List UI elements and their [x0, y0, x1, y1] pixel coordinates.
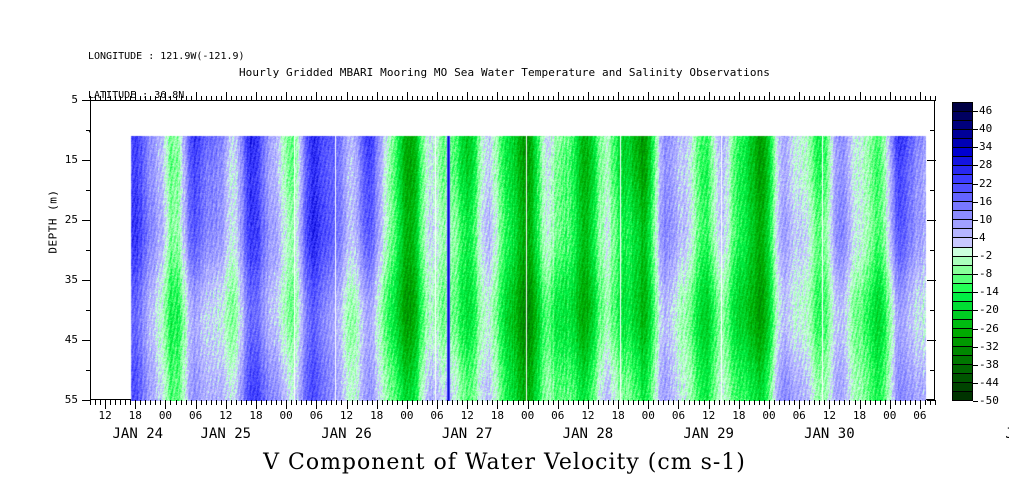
x-axis-top-major-tick — [618, 92, 619, 101]
x-axis-minor-tick — [306, 400, 307, 405]
x-axis-minor-tick — [839, 400, 840, 405]
colorbar-tick — [973, 111, 978, 112]
y-axis-major-tick — [82, 220, 91, 221]
x-axis-minor-tick — [885, 400, 886, 405]
y-axis-minor-tick — [86, 250, 91, 251]
y-axis-right-minor-tick — [930, 310, 935, 311]
x-axis-minor-tick — [794, 400, 795, 405]
x-axis-minor-tick — [140, 400, 141, 405]
colorbar-cell — [953, 275, 972, 284]
x-axis-minor-tick — [643, 400, 644, 405]
x-axis-top-major-tick — [105, 92, 106, 101]
x-axis-minor-tick — [608, 400, 609, 405]
x-axis-minor-tick — [502, 400, 503, 405]
colorbar-cell — [953, 338, 972, 347]
x-axis-major-tick — [920, 400, 921, 409]
x-axis-top-minor-tick — [870, 96, 871, 101]
x-axis-major-tick — [678, 400, 679, 409]
colorbar-cell — [953, 320, 972, 329]
x-axis-minor-tick — [734, 400, 735, 405]
x-axis-minor-tick — [367, 400, 368, 405]
x-axis-top-minor-tick — [613, 96, 614, 101]
colorbar-tick — [973, 238, 978, 239]
x-axis-top-minor-tick — [714, 96, 715, 101]
x-axis-day-label: JAN 25 — [166, 426, 286, 442]
x-axis-minor-tick — [905, 400, 906, 405]
x-axis-major-tick — [196, 400, 197, 409]
x-axis-top-major-tick — [739, 92, 740, 101]
x-axis-major-tick — [769, 400, 770, 409]
x-axis-minor-tick — [628, 400, 629, 405]
colorbar-cell — [953, 112, 972, 121]
colorbar — [952, 102, 973, 401]
colorbar-cell — [953, 121, 972, 130]
y-axis-major-tick — [82, 400, 91, 401]
x-axis-top-minor-tick — [331, 96, 332, 101]
x-axis-top-minor-tick — [326, 96, 327, 101]
colorbar-label: -50 — [979, 394, 999, 407]
x-axis-minor-tick — [764, 400, 765, 405]
x-axis-minor-tick — [392, 400, 393, 405]
heatmap-canvas — [91, 101, 936, 401]
x-axis-minor-tick — [241, 400, 242, 405]
colorbar-cell — [953, 211, 972, 220]
x-axis-minor-tick — [543, 400, 544, 405]
x-axis-top-minor-tick — [301, 96, 302, 101]
colorbar-cell — [953, 157, 972, 166]
colorbar-label: -38 — [979, 358, 999, 371]
x-axis-major-tick — [286, 400, 287, 409]
x-axis-minor-tick — [457, 400, 458, 405]
colorbar-cell — [953, 220, 972, 229]
x-axis-minor-tick — [387, 400, 388, 405]
x-axis-top-minor-tick — [191, 96, 192, 101]
x-axis-top-minor-tick — [910, 96, 911, 101]
x-axis-minor-tick — [724, 400, 725, 405]
x-axis-major-tick — [226, 400, 227, 409]
x-axis-top-minor-tick — [120, 96, 121, 101]
x-axis-minor-tick — [336, 400, 337, 405]
x-axis-top-minor-tick — [115, 96, 116, 101]
x-axis-minor-tick — [880, 400, 881, 405]
x-axis-minor-tick — [341, 400, 342, 405]
x-axis-top-minor-tick — [392, 96, 393, 101]
x-axis-minor-tick — [301, 400, 302, 405]
x-axis-top-major-tick — [799, 92, 800, 101]
x-axis-top-minor-tick — [110, 96, 111, 101]
x-axis-top-minor-tick — [181, 96, 182, 101]
x-axis-top-minor-tick — [397, 96, 398, 101]
x-axis-minor-tick — [331, 400, 332, 405]
x-axis-top-major-tick — [920, 92, 921, 101]
x-axis-minor-tick — [548, 400, 549, 405]
x-axis-top-minor-tick — [357, 96, 358, 101]
x-axis-top-minor-tick — [236, 96, 237, 101]
x-axis-top-major-tick — [890, 92, 891, 101]
x-axis-minor-tick — [492, 400, 493, 405]
x-axis-minor-tick — [538, 400, 539, 405]
x-axis-top-minor-tick — [593, 96, 594, 101]
x-axis-major-tick — [558, 400, 559, 409]
x-axis-minor-tick — [673, 400, 674, 405]
x-axis-minor-tick — [206, 400, 207, 405]
colorbar-label: 34 — [979, 140, 992, 153]
x-axis-top-minor-tick — [221, 96, 222, 101]
x-axis-top-minor-tick — [201, 96, 202, 101]
x-axis-top-minor-tick — [186, 96, 187, 101]
y-axis-major-tick — [82, 160, 91, 161]
x-axis-top-minor-tick — [216, 96, 217, 101]
x-axis-minor-tick — [865, 400, 866, 405]
x-axis-top-minor-tick — [422, 96, 423, 101]
colorbar-cell — [953, 284, 972, 293]
colorbar-label: -20 — [979, 303, 999, 316]
x-axis-minor-tick — [281, 400, 282, 405]
x-axis-top-major-tick — [407, 92, 408, 101]
colorbar-cell — [953, 139, 972, 148]
x-axis-top-minor-tick — [603, 96, 604, 101]
x-axis-top-minor-tick — [885, 96, 886, 101]
x-axis-top-major-tick — [860, 92, 861, 101]
colorbar-cell — [953, 103, 972, 112]
x-axis-top-minor-tick — [925, 96, 926, 101]
x-axis-minor-tick — [668, 400, 669, 405]
colorbar-label: -26 — [979, 322, 999, 335]
x-axis-minor-tick — [402, 400, 403, 405]
x-axis-top-minor-tick — [658, 96, 659, 101]
x-axis-top-minor-tick — [145, 96, 146, 101]
x-axis-top-major-tick — [226, 92, 227, 101]
x-axis-major-tick — [165, 400, 166, 409]
x-axis-top-minor-tick — [321, 96, 322, 101]
x-axis-minor-tick — [352, 400, 353, 405]
colorbar-tick — [973, 365, 978, 366]
x-axis-top-minor-tick — [824, 96, 825, 101]
x-axis-minor-tick — [201, 400, 202, 405]
x-axis-minor-tick — [276, 400, 277, 405]
x-axis-minor-tick — [100, 400, 101, 405]
x-axis-top-minor-tick — [875, 96, 876, 101]
x-axis-top-minor-tick — [598, 96, 599, 101]
x-axis-day-label: JAN 31 — [971, 426, 1009, 442]
colorbar-cell — [953, 311, 972, 320]
x-axis-minor-tick — [663, 400, 664, 405]
x-axis-top-minor-tick — [477, 96, 478, 101]
x-axis-minor-tick — [819, 400, 820, 405]
x-axis-minor-tick — [568, 400, 569, 405]
x-axis-minor-tick — [834, 400, 835, 405]
colorbar-cell — [953, 374, 972, 383]
x-axis-minor-tick — [900, 400, 901, 405]
x-axis-minor-tick — [809, 400, 810, 405]
x-axis-day-label: JAN 28 — [528, 426, 648, 442]
x-axis-minor-tick — [729, 400, 730, 405]
x-axis-top-minor-tick — [296, 96, 297, 101]
x-axis-top-minor-tick — [281, 96, 282, 101]
colorbar-cell — [953, 356, 972, 365]
colorbar-tick — [973, 165, 978, 166]
x-axis-top-minor-tick — [633, 96, 634, 101]
x-axis-top-minor-tick — [176, 96, 177, 101]
x-axis-top-minor-tick — [487, 96, 488, 101]
x-axis-day-label: JAN 26 — [287, 426, 407, 442]
x-axis-top-minor-tick — [623, 96, 624, 101]
x-axis-top-minor-tick — [719, 96, 720, 101]
x-axis-minor-tick — [125, 400, 126, 405]
x-axis-minor-tick — [472, 400, 473, 405]
x-axis-minor-tick — [689, 400, 690, 405]
x-axis-minor-tick — [362, 400, 363, 405]
colorbar-tick — [973, 129, 978, 130]
x-axis-top-major-tick — [558, 92, 559, 101]
x-axis-minor-tick — [95, 400, 96, 405]
x-axis-top-minor-tick — [814, 96, 815, 101]
y-axis-depth-label: 5 — [46, 93, 78, 106]
x-axis-minor-tick — [231, 400, 232, 405]
x-axis-minor-tick — [507, 400, 508, 405]
x-axis-top-major-tick — [709, 92, 710, 101]
x-axis-minor-tick — [115, 400, 116, 405]
x-axis-top-minor-tick — [507, 96, 508, 101]
x-axis-major-tick — [739, 400, 740, 409]
x-axis-minor-tick — [714, 400, 715, 405]
x-axis-minor-tick — [462, 400, 463, 405]
x-axis-top-minor-tick — [447, 96, 448, 101]
x-axis-minor-tick — [744, 400, 745, 405]
x-axis-top-minor-tick — [734, 96, 735, 101]
x-axis-major-tick — [799, 400, 800, 409]
x-axis-top-minor-tick — [779, 96, 780, 101]
x-axis-top-minor-tick — [241, 96, 242, 101]
x-axis-minor-tick — [784, 400, 785, 405]
colorbar-cell — [953, 130, 972, 139]
x-axis-top-minor-tick — [387, 96, 388, 101]
x-axis-minor-tick — [749, 400, 750, 405]
x-axis-top-minor-tick — [804, 96, 805, 101]
x-axis-top-minor-tick — [492, 96, 493, 101]
x-axis-top-minor-tick — [865, 96, 866, 101]
x-axis-top-minor-tick — [643, 96, 644, 101]
x-axis-top-minor-tick — [663, 96, 664, 101]
x-axis-minor-tick — [513, 400, 514, 405]
x-axis-major-tick — [709, 400, 710, 409]
x-axis-minor-tick — [653, 400, 654, 405]
x-axis-top-minor-tick — [442, 96, 443, 101]
x-axis-top-major-tick — [316, 92, 317, 101]
x-axis-top-minor-tick — [402, 96, 403, 101]
x-axis-top-major-tick — [829, 92, 830, 101]
x-axis-top-minor-tick — [563, 96, 564, 101]
x-axis-minor-tick — [130, 400, 131, 405]
longitude-text: LONGITUDE : 121.9W(-121.9) — [88, 50, 245, 63]
x-axis-hour-label: 06 — [900, 409, 940, 422]
x-axis-minor-tick — [170, 400, 171, 405]
x-axis-top-minor-tick — [533, 96, 534, 101]
x-axis-top-minor-tick — [367, 96, 368, 101]
x-axis-day-label: JAN 29 — [649, 426, 769, 442]
x-axis-minor-tick — [311, 400, 312, 405]
x-axis-minor-tick — [915, 400, 916, 405]
x-axis-top-minor-tick — [699, 96, 700, 101]
x-axis-top-minor-tick — [472, 96, 473, 101]
x-axis-top-minor-tick — [628, 96, 629, 101]
x-axis-minor-tick — [271, 400, 272, 405]
colorbar-tick — [973, 347, 978, 348]
y-axis-depth-label: 25 — [46, 213, 78, 226]
x-axis-day-label: JAN 27 — [407, 426, 527, 442]
x-axis-major-tick — [860, 400, 861, 409]
x-axis-top-minor-tick — [809, 96, 810, 101]
colorbar-cell — [953, 257, 972, 266]
x-axis-top-minor-tick — [502, 96, 503, 101]
x-axis-top-minor-tick — [266, 96, 267, 101]
x-axis-top-minor-tick — [673, 96, 674, 101]
x-axis-top-minor-tick — [412, 96, 413, 101]
colorbar-tick — [973, 310, 978, 311]
x-axis-top-major-tick — [648, 92, 649, 101]
x-axis-top-minor-tick — [336, 96, 337, 101]
x-axis-top-minor-tick — [95, 96, 96, 101]
x-axis-top-minor-tick — [206, 96, 207, 101]
x-axis-minor-tick — [357, 400, 358, 405]
x-axis-top-minor-tick — [543, 96, 544, 101]
x-axis-minor-tick — [658, 400, 659, 405]
x-axis-top-minor-tick — [849, 96, 850, 101]
x-axis-top-major-tick — [528, 92, 529, 101]
colorbar-cell — [953, 302, 972, 311]
x-axis-minor-tick — [412, 400, 413, 405]
x-axis-top-minor-tick — [125, 96, 126, 101]
x-axis-minor-tick — [824, 400, 825, 405]
x-axis-top-minor-tick — [915, 96, 916, 101]
x-axis-top-minor-tick — [100, 96, 101, 101]
x-axis-top-minor-tick — [608, 96, 609, 101]
y-axis-major-tick — [82, 280, 91, 281]
colorbar-label: -32 — [979, 340, 999, 353]
x-axis-minor-tick — [382, 400, 383, 405]
x-axis-major-tick — [347, 400, 348, 409]
x-axis-major-tick — [316, 400, 317, 409]
x-axis-top-minor-tick — [754, 96, 755, 101]
x-axis-major-tick — [528, 400, 529, 409]
x-axis-top-minor-tick — [341, 96, 342, 101]
x-axis-major-tick — [377, 400, 378, 409]
y-axis-right-minor-tick — [930, 250, 935, 251]
x-axis-top-minor-tick — [462, 96, 463, 101]
x-axis-top-minor-tick — [291, 96, 292, 101]
x-axis-minor-tick — [251, 400, 252, 405]
x-axis-top-major-tick — [165, 92, 166, 101]
x-axis-top-minor-tick — [774, 96, 775, 101]
colorbar-label: 40 — [979, 122, 992, 135]
colorbar-label: 10 — [979, 213, 992, 226]
x-axis-minor-tick — [603, 400, 604, 405]
x-axis-top-minor-tick — [729, 96, 730, 101]
x-axis-top-minor-tick — [684, 96, 685, 101]
x-axis-minor-tick — [759, 400, 760, 405]
x-axis-top-major-tick — [256, 92, 257, 101]
x-axis-top-minor-tick — [382, 96, 383, 101]
x-axis-top-minor-tick — [251, 96, 252, 101]
colorbar-label: 22 — [979, 177, 992, 190]
y-axis-right-major-tick — [927, 160, 936, 161]
x-axis-top-major-tick — [467, 92, 468, 101]
x-axis-minor-tick — [321, 400, 322, 405]
x-axis-top-minor-tick — [523, 96, 524, 101]
x-axis-top-minor-tick — [568, 96, 569, 101]
x-axis-top-minor-tick — [432, 96, 433, 101]
x-axis-top-minor-tick — [427, 96, 428, 101]
x-axis-minor-tick — [593, 400, 594, 405]
x-axis-top-minor-tick — [789, 96, 790, 101]
colorbar-label: -14 — [979, 285, 999, 298]
x-axis-minor-tick — [145, 400, 146, 405]
x-axis-top-major-tick — [588, 92, 589, 101]
x-axis-minor-tick — [176, 400, 177, 405]
x-axis-minor-tick — [925, 400, 926, 405]
x-axis-minor-tick — [754, 400, 755, 405]
x-axis-top-minor-tick — [553, 96, 554, 101]
x-axis-minor-tick — [447, 400, 448, 405]
figure-caption: V Component of Water Velocity (cm s-1) — [0, 450, 1009, 475]
x-axis-top-minor-tick — [819, 96, 820, 101]
x-axis-top-minor-tick — [548, 96, 549, 101]
x-axis-top-minor-tick — [759, 96, 760, 101]
colorbar-label: 28 — [979, 158, 992, 171]
colorbar-label: 16 — [979, 195, 992, 208]
x-axis-minor-tick — [487, 400, 488, 405]
x-axis-minor-tick — [442, 400, 443, 405]
x-axis-top-minor-tick — [271, 96, 272, 101]
x-axis-major-tick — [890, 400, 891, 409]
x-axis-top-minor-tick — [905, 96, 906, 101]
y-axis-minor-tick — [86, 130, 91, 131]
x-axis-top-minor-tick — [231, 96, 232, 101]
x-axis-minor-tick — [417, 400, 418, 405]
x-axis-top-minor-tick — [583, 96, 584, 101]
x-axis-minor-tick — [578, 400, 579, 405]
x-axis-top-minor-tick — [311, 96, 312, 101]
x-axis-minor-tick — [246, 400, 247, 405]
x-axis-major-tick — [829, 400, 830, 409]
x-axis-minor-tick — [110, 400, 111, 405]
y-axis-right-major-tick — [927, 340, 936, 341]
colorbar-label: -8 — [979, 267, 992, 280]
x-axis-top-minor-tick — [668, 96, 669, 101]
x-axis-top-minor-tick — [482, 96, 483, 101]
y-axis-depth-label: 15 — [46, 153, 78, 166]
colorbar-cell — [953, 238, 972, 247]
x-axis-minor-tick — [372, 400, 373, 405]
x-axis-minor-tick — [804, 400, 805, 405]
x-axis-minor-tick — [563, 400, 564, 405]
x-axis-top-minor-tick — [352, 96, 353, 101]
x-axis-minor-tick — [221, 400, 222, 405]
x-axis-minor-tick — [422, 400, 423, 405]
x-axis-minor-tick — [910, 400, 911, 405]
y-axis-right-major-tick — [927, 220, 936, 221]
colorbar-tick — [973, 147, 978, 148]
x-axis-top-minor-tick — [844, 96, 845, 101]
x-axis-top-minor-tick — [362, 96, 363, 101]
colorbar-label: 4 — [979, 231, 986, 244]
x-axis-top-minor-tick — [246, 96, 247, 101]
x-axis-top-minor-tick — [518, 96, 519, 101]
x-axis-minor-tick — [814, 400, 815, 405]
colorbar-cell — [953, 392, 972, 400]
x-axis-top-minor-tick — [452, 96, 453, 101]
x-axis-top-minor-tick — [764, 96, 765, 101]
